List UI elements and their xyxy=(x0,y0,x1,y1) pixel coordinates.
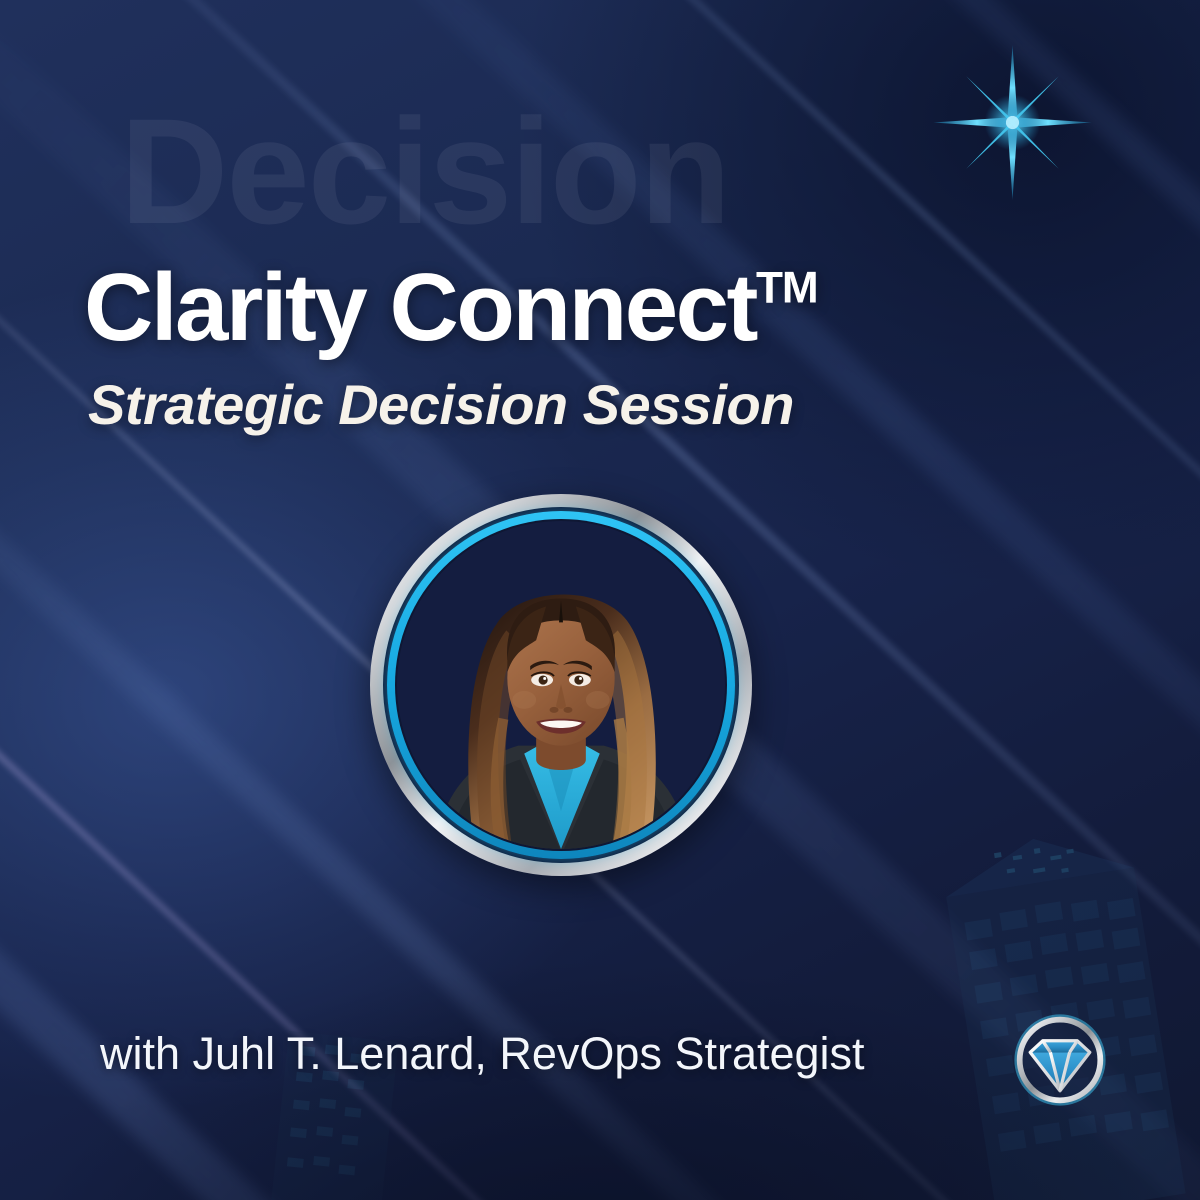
avatar xyxy=(397,521,725,849)
title-text: Clarity Connect xyxy=(84,254,756,361)
background-watermark-text: Decision xyxy=(120,96,729,246)
presenter-portrait xyxy=(370,494,752,876)
page-title: Clarity ConnectTM xyxy=(84,258,818,359)
page-subtitle: Strategic Decision Session xyxy=(88,372,794,437)
presenter-credit: with Juhl T. Lenard, RevOps Strategist xyxy=(100,1028,865,1080)
promo-poster: Decision xyxy=(0,0,1200,1200)
diamond-logo-icon[interactable] xyxy=(1012,1012,1108,1108)
trademark-mark: TM xyxy=(756,263,818,312)
sparkle-star-icon xyxy=(930,40,1095,205)
